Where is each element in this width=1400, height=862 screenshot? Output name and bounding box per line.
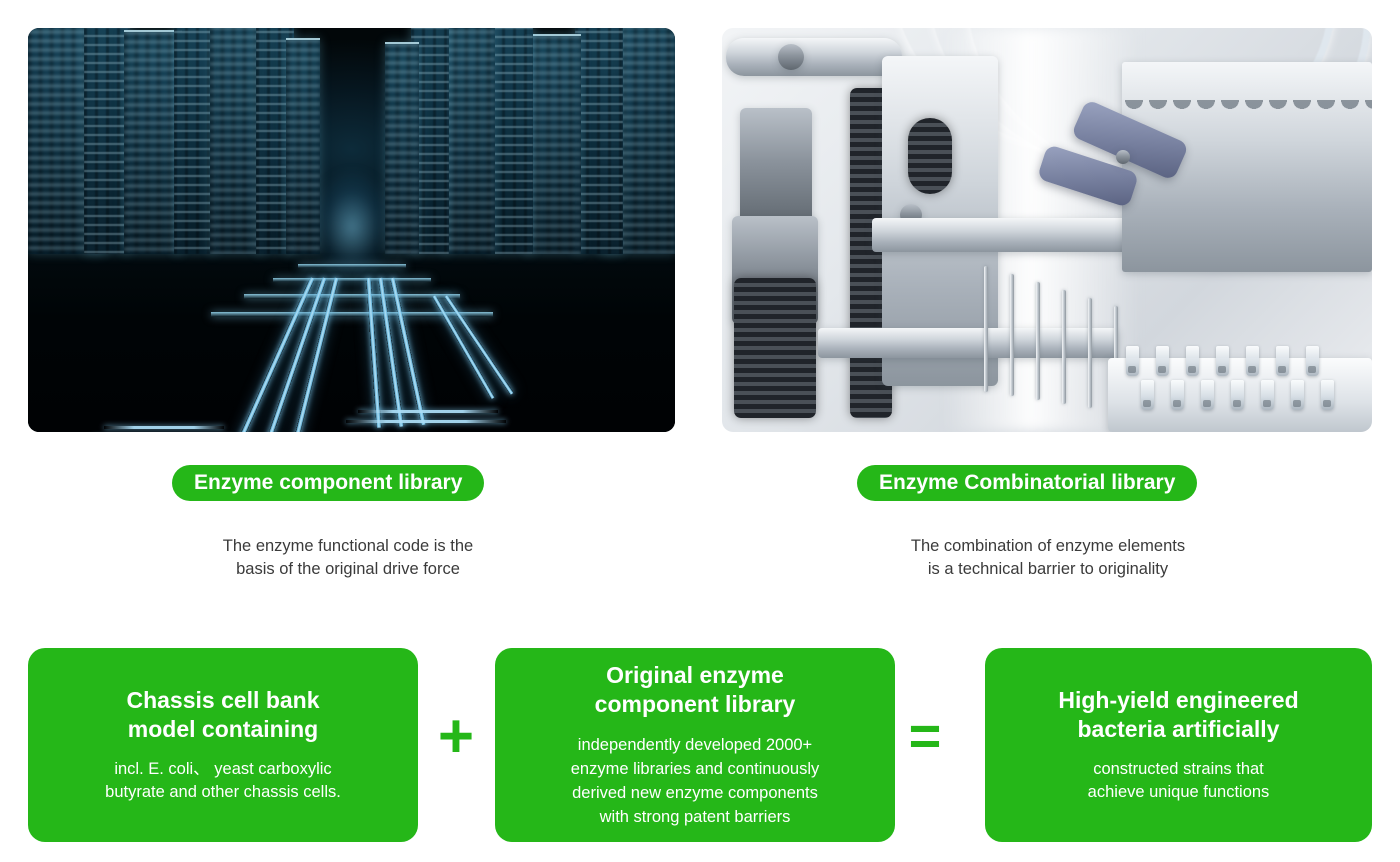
actuator-cylinder <box>740 108 812 226</box>
data-tower <box>286 38 320 254</box>
digital-data-corridor-illustration <box>28 28 675 432</box>
circuit-ribbon <box>104 426 224 429</box>
card-body: constructed strains that achieve unique … <box>1088 758 1270 804</box>
lab-machine-illustration <box>722 28 1372 432</box>
sample-vial <box>1306 346 1319 376</box>
sample-vial <box>1156 346 1169 376</box>
bracket-arm <box>726 38 902 76</box>
sample-vial <box>1126 346 1139 376</box>
sample-vial <box>1291 380 1304 410</box>
equals-icon: = <box>895 708 955 764</box>
enzyme-component-library-badge[interactable]: Enzyme component library <box>172 465 484 501</box>
card-title: High-yield engineered bacteria artificia… <box>1058 686 1298 744</box>
dispense-needle <box>1062 290 1066 404</box>
card-chassis-cell-bank[interactable]: Chassis cell bank model containing incl.… <box>28 648 418 842</box>
enzyme-component-library-image <box>28 28 675 432</box>
equation-row: Chassis cell bank model containing incl.… <box>0 648 1400 842</box>
enzyme-combinatorial-library-image <box>722 28 1372 432</box>
data-tower <box>491 28 533 254</box>
corridor-step <box>298 264 406 268</box>
bellows-boot <box>734 278 816 418</box>
card-title: Chassis cell bank model containing <box>126 686 319 744</box>
sample-vial <box>1171 380 1184 410</box>
corridor-step <box>273 278 431 282</box>
enzyme-combinatorial-library-badge[interactable]: Enzyme Combinatorial library <box>857 465 1197 501</box>
sample-vial <box>1231 380 1244 410</box>
corridor-step <box>211 312 493 317</box>
data-tower <box>575 28 623 254</box>
sample-vial <box>1246 346 1259 376</box>
sample-vial <box>1201 380 1214 410</box>
sample-vial <box>1276 346 1289 376</box>
dispense-needle <box>1010 274 1014 396</box>
photo-row <box>0 0 1400 440</box>
scalloped-edge <box>1122 100 1372 120</box>
sample-vial <box>1141 380 1154 410</box>
enzyme-component-library-caption: The enzyme functional code is the basis … <box>148 535 548 581</box>
data-tower <box>385 42 419 254</box>
data-tower <box>443 28 495 254</box>
plate-cutout <box>908 118 952 194</box>
dispense-needle <box>1036 282 1040 400</box>
dispense-needle <box>984 266 988 392</box>
card-title: Original enzyme component library <box>595 661 796 719</box>
dispense-needle <box>1088 298 1092 408</box>
enzyme-combinatorial-library-caption: The combination of enzyme elements is a … <box>848 535 1248 581</box>
horizontal-rail <box>818 328 1118 358</box>
plus-icon: + <box>426 706 486 768</box>
card-body: independently developed 2000+ enzyme lib… <box>571 733 820 829</box>
sample-vial <box>1186 346 1199 376</box>
arm-pivot-bolt <box>1116 150 1130 164</box>
sample-vial <box>1321 380 1334 410</box>
card-body: incl. E. coli、 yeast carboxylic butyrate… <box>105 758 341 804</box>
card-original-enzyme-component-library[interactable]: Original enzyme component library indepe… <box>495 648 895 842</box>
sample-vial <box>1216 346 1229 376</box>
circuit-ribbon <box>358 410 498 413</box>
corridor-step <box>244 294 460 299</box>
circuit-ribbon <box>346 420 506 423</box>
card-high-yield-engineered-bacteria[interactable]: High-yield engineered bacteria artificia… <box>985 648 1372 842</box>
sample-vial <box>1261 380 1274 410</box>
bracket-bolt <box>778 44 804 70</box>
data-tower <box>525 34 581 254</box>
